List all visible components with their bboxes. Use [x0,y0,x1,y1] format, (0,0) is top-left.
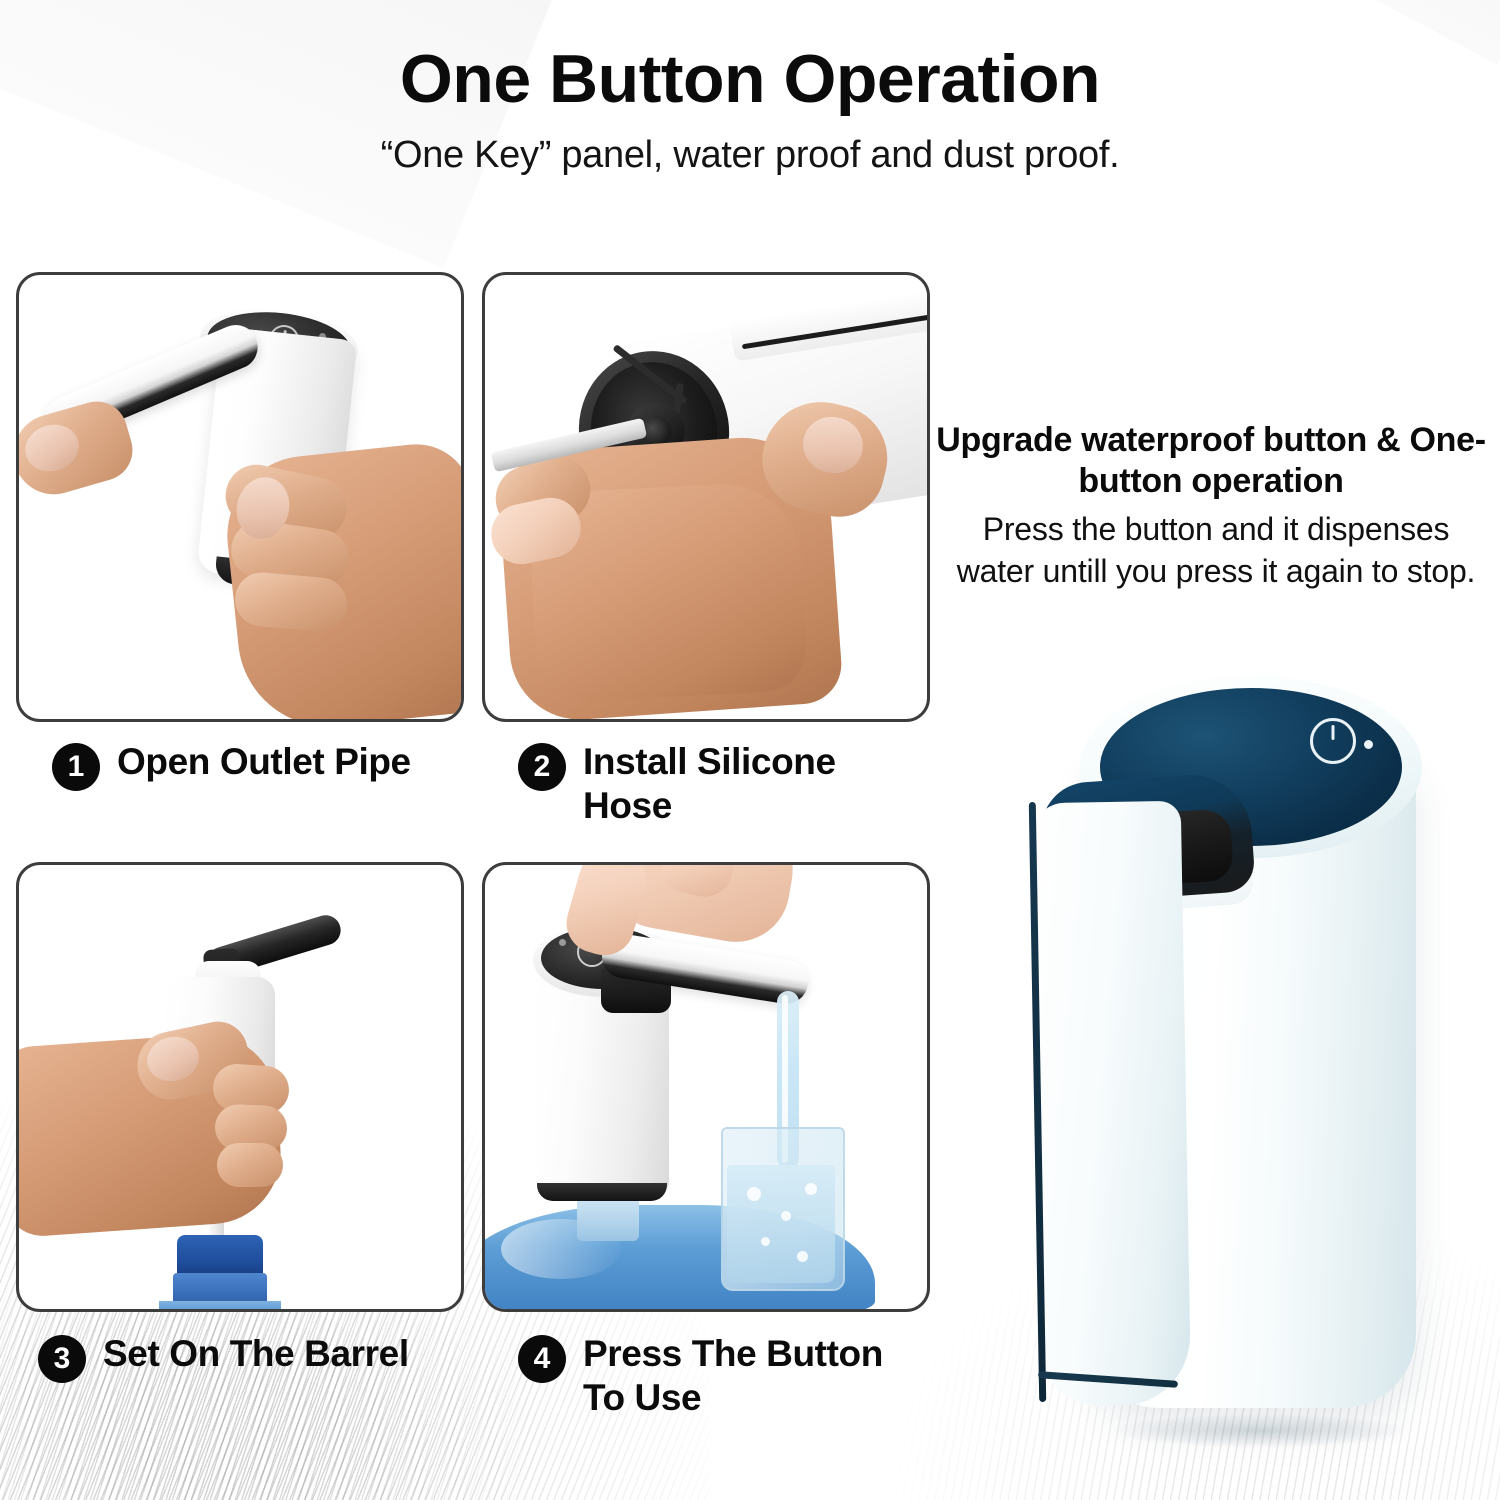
page-subtitle: “One Key” panel, water proof and dust pr… [0,134,1500,177]
step-photo-4 [482,862,930,1312]
glass-water [727,1165,835,1283]
step-photo-2 [482,272,930,722]
step-badge-4: 4 [518,1335,566,1383]
step-photo-3 [16,862,464,1312]
barrel-neck [577,1197,639,1241]
feature-title: Upgrade waterproof button & One-button o… [930,420,1492,503]
step-label-3: Set On The Barrel [103,1332,409,1376]
led-indicator-icon [1364,740,1373,749]
step-caption-2: 2 Install Silicone Hose [518,740,928,827]
hero-product-image [1014,652,1500,1500]
water-bubble [747,1187,761,1201]
power-icon [1310,718,1356,764]
step-label-1: Open Outlet Pipe [117,740,411,784]
step-badge-1: 1 [52,743,100,791]
step-badge-2: 2 [518,743,566,791]
step-caption-3: 3 Set On The Barrel [38,1332,458,1383]
water-barrel [159,1301,281,1312]
water-bubble [761,1237,770,1246]
hero-drop-shadow [1110,1414,1410,1448]
water-bubble [797,1251,808,1262]
step-caption-4: 4 Press The Button To Use [518,1332,938,1419]
hand-finger [217,1143,283,1187]
step-label-2: Install Silicone Hose [583,740,903,827]
feature-description: Press the button and it dispenses water … [942,508,1490,592]
water-bubble [805,1183,817,1195]
led-indicator-icon [559,939,566,946]
hero-outlet-pipe-shell [1031,801,1192,1408]
step-photo-1 [16,272,464,722]
step-label-4: Press The Button To Use [583,1332,903,1419]
water-bubble [781,1211,791,1221]
step-caption-1: 1 Open Outlet Pipe [52,740,462,791]
page-title: One Button Operation [0,44,1500,115]
pump-base-collar [537,1183,667,1201]
step-badge-3: 3 [38,1335,86,1383]
hand-finger [233,570,349,634]
